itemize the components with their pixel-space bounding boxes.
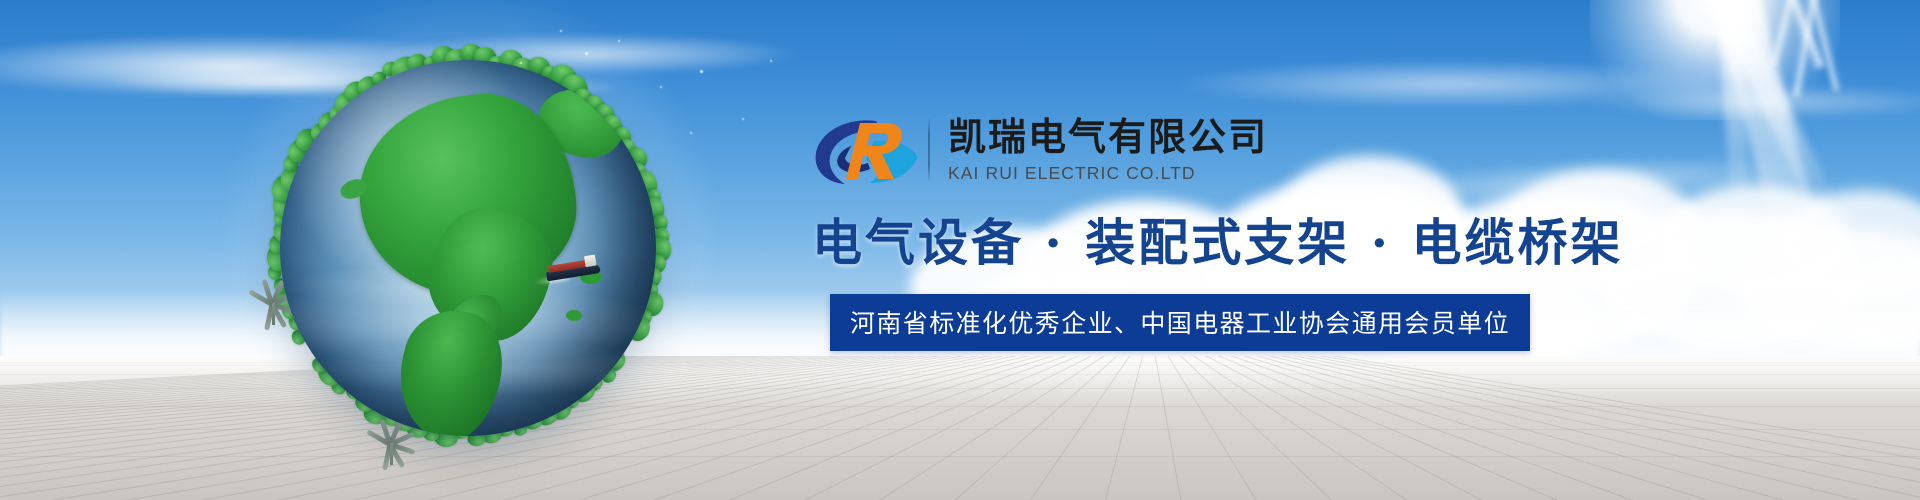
brand-lockup: 凯瑞电气有限公司 KAI RUI ELECTRIC CO.LTD bbox=[812, 104, 1512, 196]
headline-slogan: 电气设备 · 装配式支架 · 电缆桥架 bbox=[812, 214, 1512, 272]
company-name-en: KAI RUI ELECTRIC CO.LTD bbox=[948, 163, 1268, 184]
island bbox=[566, 310, 582, 321]
kairui-cr-monogram-icon bbox=[812, 113, 920, 187]
logo-divider bbox=[928, 119, 930, 181]
globe-sphere bbox=[280, 60, 656, 436]
company-name-cn: 凯瑞电气有限公司 bbox=[948, 116, 1268, 159]
green-earth-globe bbox=[258, 38, 678, 458]
hero-banner: 凯瑞电气有限公司 KAI RUI ELECTRIC CO.LTD 电气设备 · … bbox=[0, 0, 1920, 500]
banner-content: 凯瑞电气有限公司 KAI RUI ELECTRIC CO.LTD 电气设备 · … bbox=[812, 104, 1512, 351]
certification-ribbon: 河南省标准化优秀企业、中国电器工业协会通用会员单位 bbox=[830, 294, 1530, 351]
